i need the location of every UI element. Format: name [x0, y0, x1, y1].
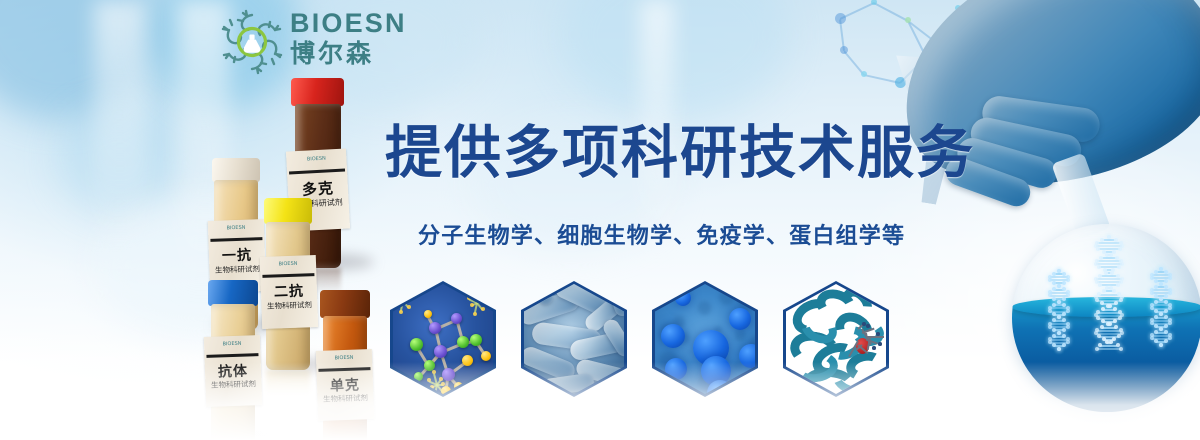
brand-wordmark: BIOESN 博尔森 — [290, 10, 410, 67]
vial-label-sub: 生物科研试剂 — [261, 299, 317, 312]
floor-reflection — [0, 362, 1200, 440]
brand-logo: BIOESN 博尔森 — [218, 6, 408, 78]
dna-double-helix — [1048, 270, 1070, 348]
bokeh-blob — [560, 0, 790, 120]
dna-double-helix — [1094, 236, 1124, 348]
page-title: 提供多项科研技术服务 — [385, 124, 975, 184]
light-streak — [94, 0, 146, 260]
brand-name-cn: 博尔森 — [290, 41, 410, 67]
dna-double-helix — [1150, 268, 1172, 344]
reagent-vial-group: 多克 生物科研试剂 BIOESN 一抗 生物科研试剂 BIOESN — [196, 74, 406, 404]
vial-secondary-antibody: 二抗 生物科研试剂 BIOESN — [258, 198, 320, 374]
flask-in-circle-icon — [218, 8, 286, 76]
vial-brand: BIOESN — [208, 224, 264, 232]
vial-brand: BIOESN — [204, 340, 260, 348]
vial-brand: BIOESN — [260, 260, 316, 268]
page-subtitle: 分子生物学、细胞生物学、免疫学、蛋白组学等 — [418, 224, 905, 250]
vial-brand: BIOESN — [316, 354, 372, 362]
brand-name-en: BIOESN — [290, 10, 410, 37]
promo-banner: BIOESN 博尔森 多克 生物科研试剂 BIOESN 一抗 — [0, 0, 1200, 440]
vial-brand: BIOESN — [286, 154, 346, 163]
